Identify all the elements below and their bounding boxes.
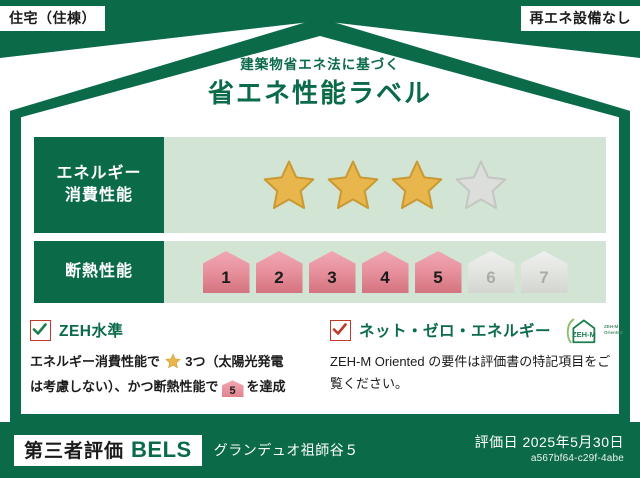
badge-value: 7 [539,269,548,293]
svg-text:ZEH-M: ZEH-M [572,330,596,339]
energy-label-line2: 消費性能 [65,185,133,207]
checkmark-icon [330,320,351,341]
building-type-tag: 住宅（住棟） [0,6,105,31]
insulation-level-badge: 6 [468,251,515,293]
zeh-criteria-title: ZEH水準 [59,319,124,341]
netzero-criteria-block: ネット・ゼロ・エネルギー ZEH-M ZEH-M Oriented ZEH-M … [330,318,618,396]
zeh-desc-part1: エネルギー消費性能で [30,354,160,369]
badge-value: 1 [221,269,230,293]
star-icon-filled [389,158,445,212]
label-title-block: 建築物省エネ法に基づく 省エネ性能ラベル [0,58,640,107]
insulation-rating-value: 1234567 [164,241,606,303]
badge-value: 2 [274,269,283,293]
zeh-m-logo-icon: ZEH-M ZEH-M Oriented [565,316,623,344]
bels-japanese-text: 第三者評価 [24,442,124,461]
building-name: グランデュオ祖師谷５ [214,440,359,460]
netzero-criteria-title: ネット・ゼロ・エネルギー [359,319,551,341]
star-icon-filled [325,158,381,212]
star-icon-empty [453,158,509,212]
label-footer: 第三者評価 BELS グランデュオ祖師谷５ 評価日 2025年5月30日 a56… [0,422,640,478]
inline-star-icon [161,357,184,372]
zeh-criteria-header: ZEH水準 [30,318,318,342]
insulation-level-badge: 5 [415,251,462,293]
insulation-level-badge: 2 [256,251,303,293]
evaluation-info: 評価日 2025年5月30日 a567bf64-c29f-4abe [475,434,624,466]
energy-performance-label-key: エネルギー 消費性能 [34,137,164,233]
zeh-criteria-block: ZEH水準 エネルギー消費性能で 3つ（太陽光発電 は考慮しない）、かつ断熱性能… [30,318,318,399]
bels-badge: 第三者評価 BELS [14,435,202,466]
bels-english-text: BELS [131,439,192,461]
renewable-equipment-tag: 再エネ設備なし [521,6,640,31]
zeh-criteria-description: エネルギー消費性能で 3つ（太陽光発電 は考慮しない）、かつ断熱性能で 5 を達… [30,351,318,399]
netzero-criteria-header: ネット・ゼロ・エネルギー ZEH-M ZEH-M Oriented [330,318,618,342]
energy-rating-value [164,137,606,233]
insulation-level-badge: 1 [203,251,250,293]
insulation-level-badge: 3 [309,251,356,293]
label-main-title: 省エネ性能ラベル [0,80,640,107]
evaluation-id: a567bf64-c29f-4abe [475,451,624,466]
zeh-m-logo-subtext: ZEH-M Oriented [604,324,623,335]
insulation-level-badge: 4 [362,251,409,293]
badge-value: 4 [380,269,389,293]
energy-performance-label: 住宅（住棟） 再エネ設備なし 建築物省エネ法に基づく 省エネ性能ラベル エネルギ… [0,0,640,478]
insulation-performance-label-key: 断熱性能 [34,241,164,303]
zeh-desc-part3: は考慮しない）、かつ断熱性能で [30,379,219,394]
zeh-m-sub-line1: ZEH-M [604,324,618,329]
insulation-level-badge: 7 [521,251,568,293]
star-icon-filled [261,158,317,212]
badge-value: 3 [327,269,336,293]
insulation-level-strip: 1234567 [203,251,568,293]
badge-value: 5 [433,269,442,293]
badge-value: 6 [486,269,495,293]
zeh-desc-part4: を達成 [247,379,286,394]
energy-label-line1: エネルギー [56,163,141,185]
netzero-criteria-description: ZEH-M Oriented の要件は評価書の特記項目をご覧ください。 [330,351,618,396]
energy-performance-row: エネルギー 消費性能 [34,137,606,233]
evaluation-date: 評価日 2025年5月30日 [475,434,624,451]
label-subtitle: 建築物省エネ法に基づく [0,58,640,72]
zeh-desc-part2: 3つ（太陽光発電 [185,354,283,369]
zeh-m-sub-line2: Oriented [604,330,623,335]
insulation-label: 断熱性能 [65,261,133,283]
star-rating-strip [261,158,509,212]
inline-badge-value: 5 [222,380,244,402]
insulation-performance-row: 断熱性能 1234567 [34,241,606,303]
inline-insulation-badge: 5 [222,380,244,397]
checkmark-icon [30,320,51,341]
